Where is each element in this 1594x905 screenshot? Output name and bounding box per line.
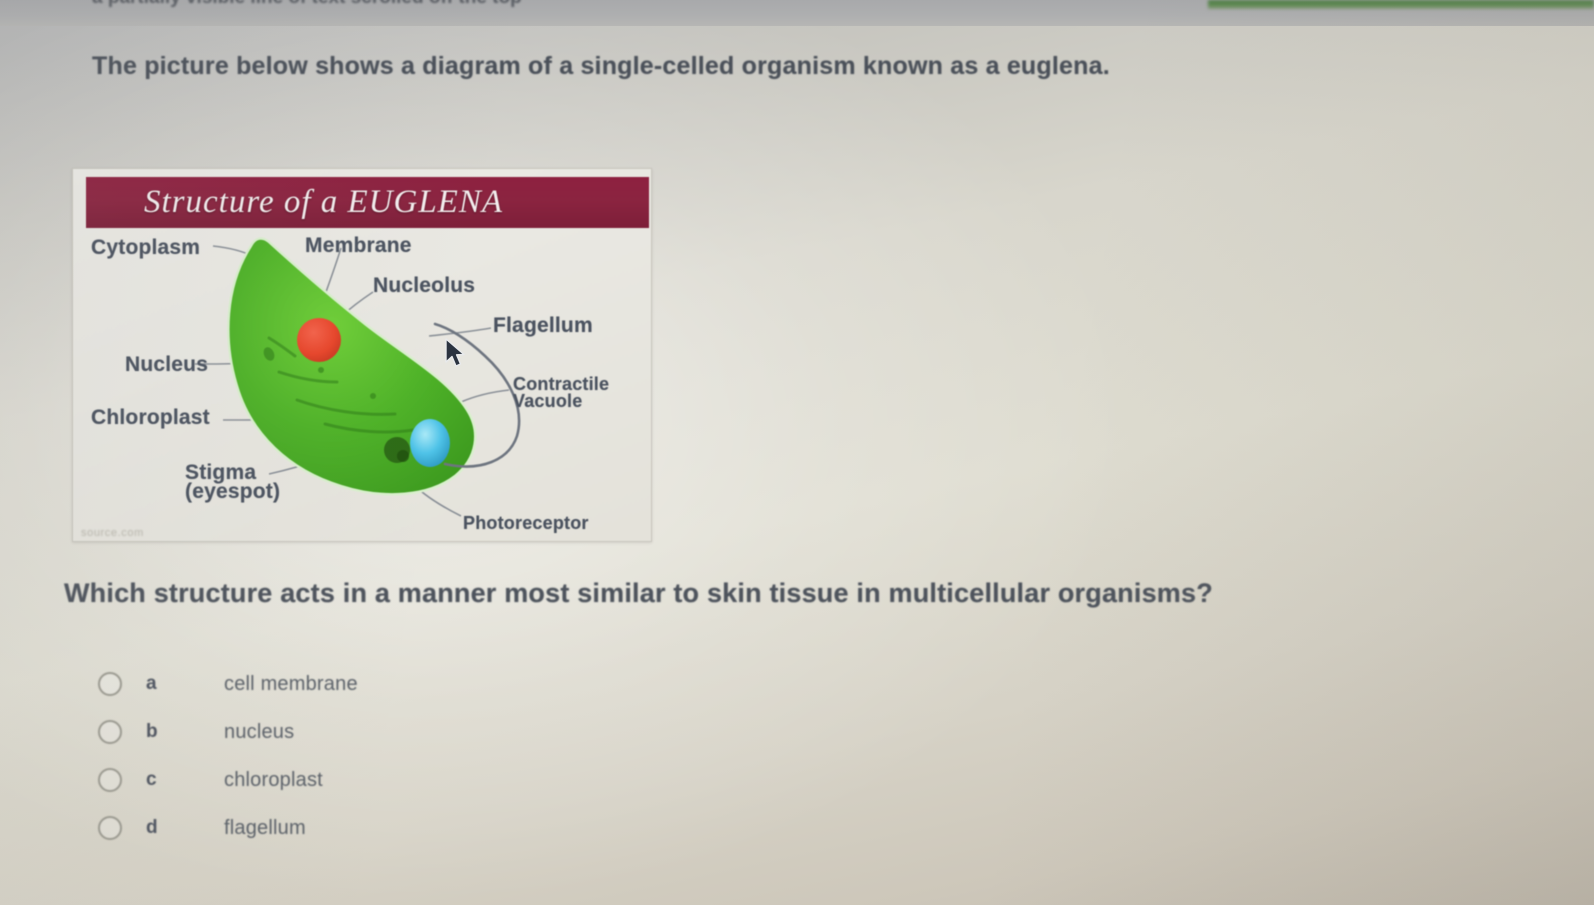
figure-stage: Cytoplasm Membrane Nucleolus Flagellum N… bbox=[73, 228, 651, 541]
label-contractile-vacuole: Contractile Vacuole bbox=[513, 376, 609, 409]
answer-option-c[interactable]: c chloroplast bbox=[0, 756, 1594, 804]
nucleus-organelle bbox=[297, 318, 341, 362]
label-nucleus: Nucleus bbox=[125, 353, 208, 377]
option-letter-a: a bbox=[146, 673, 157, 695]
radio-button-a[interactable] bbox=[98, 672, 122, 696]
answer-option-d[interactable]: d flagellum bbox=[0, 804, 1594, 852]
label-flagellum: Flagellum bbox=[493, 314, 593, 338]
option-letter-c: c bbox=[146, 769, 157, 791]
answer-option-b[interactable]: b nucleus bbox=[0, 708, 1594, 756]
radio-button-c[interactable] bbox=[98, 768, 122, 792]
label-stigma-line2: (eyespot) bbox=[185, 482, 280, 501]
question-text: Which structure acts in a manner most si… bbox=[64, 578, 1213, 609]
contractile-vacuole-organelle bbox=[410, 419, 450, 467]
label-contractile-line2: Vacuole bbox=[513, 393, 609, 410]
intro-sentence: The picture below shows a diagram of a s… bbox=[92, 52, 1110, 81]
radio-button-d[interactable] bbox=[98, 816, 122, 840]
label-stigma-eyespot: Stigma (eyespot) bbox=[185, 463, 280, 502]
figure-title: Structure of a EUGLENA bbox=[144, 184, 503, 221]
quiz-screen-photo: a partially visible line of text scrolle… bbox=[0, 0, 1594, 905]
figure-title-banner: Structure of a EUGLENA bbox=[86, 177, 649, 228]
option-text-b[interactable]: nucleus bbox=[224, 721, 294, 744]
radio-button-b[interactable] bbox=[98, 720, 122, 744]
option-text-a[interactable]: cell membrane bbox=[224, 673, 358, 696]
label-photoreceptor: Photoreceptor bbox=[463, 513, 589, 534]
label-chloroplast: Chloroplast bbox=[91, 406, 210, 430]
top-cutoff-strip: a partially visible line of text scrolle… bbox=[0, 0, 1594, 26]
euglena-figure: Structure of a EUGLENA bbox=[72, 168, 652, 542]
label-cytoplasm: Cytoplasm bbox=[91, 236, 200, 260]
label-nucleolus: Nucleolus bbox=[373, 274, 475, 298]
clipped-header-text: a partially visible line of text scrolle… bbox=[92, 0, 522, 9]
figure-watermark: source.com bbox=[81, 527, 144, 539]
option-letter-b: b bbox=[146, 721, 158, 743]
mouse-pointer-icon bbox=[443, 337, 469, 371]
answer-options-list: a cell membrane b nucleus c chloroplast … bbox=[0, 660, 1594, 852]
option-text-d[interactable]: flagellum bbox=[224, 817, 306, 840]
option-letter-d: d bbox=[146, 817, 158, 839]
answer-option-a[interactable]: a cell membrane bbox=[0, 660, 1594, 708]
option-text-c[interactable]: chloroplast bbox=[224, 769, 323, 792]
green-progress-bar bbox=[1208, 0, 1594, 9]
label-membrane: Membrane bbox=[305, 234, 412, 258]
